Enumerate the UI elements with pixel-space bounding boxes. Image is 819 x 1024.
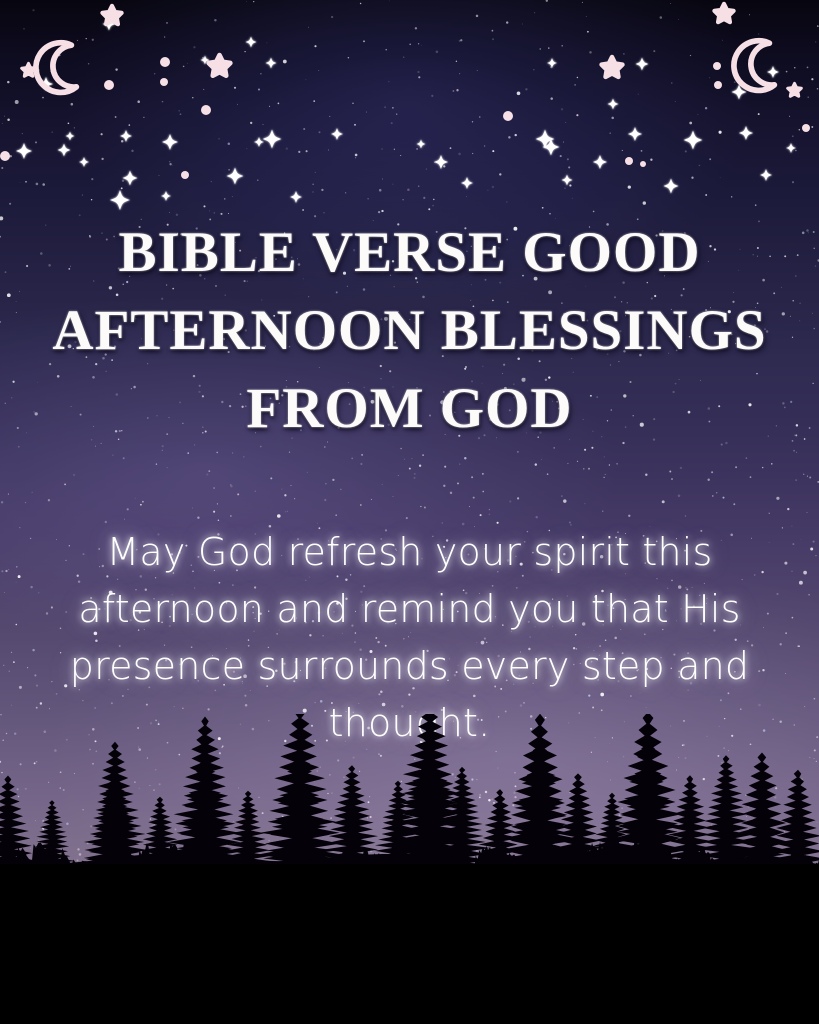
page-title: Bible Verse Good Afternoon Blessings Fro… — [0, 214, 819, 448]
verse-paragraph: May God refresh your spirit this afterno… — [0, 524, 819, 752]
text-content: Bible Verse Good Afternoon Blessings Fro… — [0, 0, 819, 1024]
poster-canvas: Bible Verse Good Afternoon Blessings Fro… — [0, 0, 819, 1024]
